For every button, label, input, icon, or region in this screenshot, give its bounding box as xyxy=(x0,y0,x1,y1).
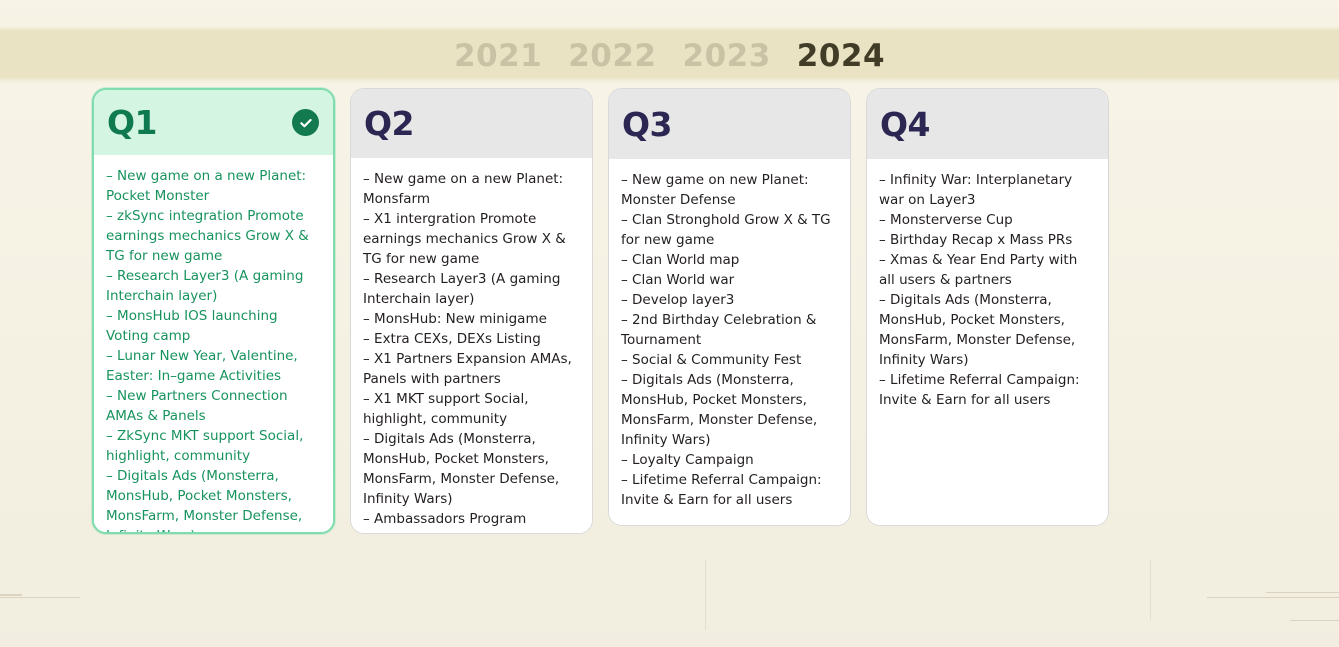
roadmap-item: – 2nd Birthday Celebration & Tournament xyxy=(621,310,838,350)
roadmap-item: – Clan World map xyxy=(621,250,838,270)
background-texture-line xyxy=(1290,620,1339,621)
check-circle-icon xyxy=(292,109,319,136)
roadmap-item: – Clan World war xyxy=(621,270,838,290)
roadmap-item: – X1 MKT support Social, highlight, comm… xyxy=(363,389,580,429)
roadmap-page: 2021202220232024 Q1– New game on a new P… xyxy=(0,0,1339,647)
year-tab-2022[interactable]: 2022 xyxy=(568,41,656,72)
roadmap-item: – Lifetime Referral Campaign: Invite & E… xyxy=(621,470,838,510)
quarter-item-list-q4[interactable]: – Infinity War: Interplanetary war on La… xyxy=(867,159,1108,525)
quarter-card-q4[interactable]: Q4– Infinity War: Interplanetary war on … xyxy=(866,88,1109,526)
roadmap-item: – Lunar New Year, Valentine, Easter: In–… xyxy=(106,346,321,386)
quarter-card-header-q4: Q4 xyxy=(867,89,1108,159)
quarter-item-list-q2[interactable]: – New game on a new Planet: Monsfarm– X1… xyxy=(351,158,592,533)
roadmap-item: – ZkSync MKT support Social, highlight, … xyxy=(106,426,321,466)
roadmap-item: – X1 Partners Expansion AMAs, Panels wit… xyxy=(363,349,580,389)
roadmap-item: – Social & Community Fest xyxy=(621,350,838,370)
roadmap-item: – Research Layer3 (A gaming Interchain l… xyxy=(106,266,321,306)
roadmap-item: – Lifetime Referral Campaign: Invite & E… xyxy=(879,370,1096,410)
background-texture-line xyxy=(0,594,22,596)
background-texture-line xyxy=(1207,597,1339,598)
background-texture-line xyxy=(1266,592,1339,593)
roadmap-item: – Infinity War: Interplanetary war on La… xyxy=(879,170,1096,210)
roadmap-item: – X1 intergration Promote earnings mecha… xyxy=(363,209,580,269)
quarter-card-header-q3: Q3 xyxy=(609,89,850,159)
quarter-title-q2: Q2 xyxy=(364,107,414,140)
quarter-card-header-q1: Q1 xyxy=(94,90,333,155)
quarter-card-q1[interactable]: Q1– New game on a new Planet: Pocket Mon… xyxy=(92,88,335,534)
quarter-title-q3: Q3 xyxy=(622,108,672,141)
roadmap-item: – New game on a new Planet: Monsfarm xyxy=(363,169,580,209)
quarter-card-header-q2: Q2 xyxy=(351,89,592,158)
year-tab-bar: 2021202220232024 xyxy=(0,33,1339,79)
background-texture-line xyxy=(705,560,706,630)
roadmap-item: – Digitals Ads (Monsterra, MonsHub, Pock… xyxy=(363,429,580,509)
roadmap-item: – Ambassadors Program xyxy=(363,509,580,529)
roadmap-item: – New game on a new Planet: Pocket Monst… xyxy=(106,166,321,206)
year-band-fade-top xyxy=(0,26,1339,32)
roadmap-item: – Digitals Ads (Monsterra, MonsHub, Pock… xyxy=(879,290,1096,370)
background-texture-line xyxy=(1150,560,1151,620)
year-tab-2023[interactable]: 2023 xyxy=(683,41,771,72)
roadmap-item: – zkSync integration Promote earnings me… xyxy=(106,206,321,266)
roadmap-item: – Develop layer3 xyxy=(621,290,838,310)
roadmap-item: – Xmas & Year End Party with all users &… xyxy=(879,250,1096,290)
roadmap-item: – MonsHub IOS launching Voting camp xyxy=(106,306,321,346)
year-tab-2021[interactable]: 2021 xyxy=(454,41,542,72)
quarter-title-q4: Q4 xyxy=(880,108,930,141)
roadmap-item: – MonsHub: New minigame xyxy=(363,309,580,329)
quarter-card-q2[interactable]: Q2– New game on a new Planet: Monsfarm– … xyxy=(350,88,593,534)
background-texture-line xyxy=(0,597,80,598)
roadmap-item: – New game on new Planet: Monster Defens… xyxy=(621,170,838,210)
roadmap-item: – Digitals Ads (Monsterra, MonsHub, Pock… xyxy=(621,370,838,450)
roadmap-item: – New Partners Connection AMAs & Panels xyxy=(106,386,321,426)
roadmap-item: – Loyalty Campaign xyxy=(621,450,838,470)
roadmap-item: – Digitals Ads (Monsterra, MonsHub, Pock… xyxy=(106,466,321,532)
quarter-item-list-q3[interactable]: – New game on new Planet: Monster Defens… xyxy=(609,159,850,525)
quarter-card-row: Q1– New game on a new Planet: Pocket Mon… xyxy=(92,88,1247,534)
quarter-card-q3[interactable]: Q3– New game on new Planet: Monster Defe… xyxy=(608,88,851,526)
roadmap-item: – Monsterverse Cup xyxy=(879,210,1096,230)
quarter-item-list-q1[interactable]: – New game on a new Planet: Pocket Monst… xyxy=(94,155,333,532)
roadmap-item: – Research Layer3 (A gaming Interchain l… xyxy=(363,269,580,309)
year-tab-2024[interactable]: 2024 xyxy=(797,41,885,72)
roadmap-item: – Clan Stronghold Grow X & TG for new ga… xyxy=(621,210,838,250)
roadmap-item: – Birthday Recap x Mass PRs xyxy=(879,230,1096,250)
quarter-title-q1: Q1 xyxy=(107,106,157,139)
roadmap-item: – Extra CEXs, DEXs Listing xyxy=(363,329,580,349)
